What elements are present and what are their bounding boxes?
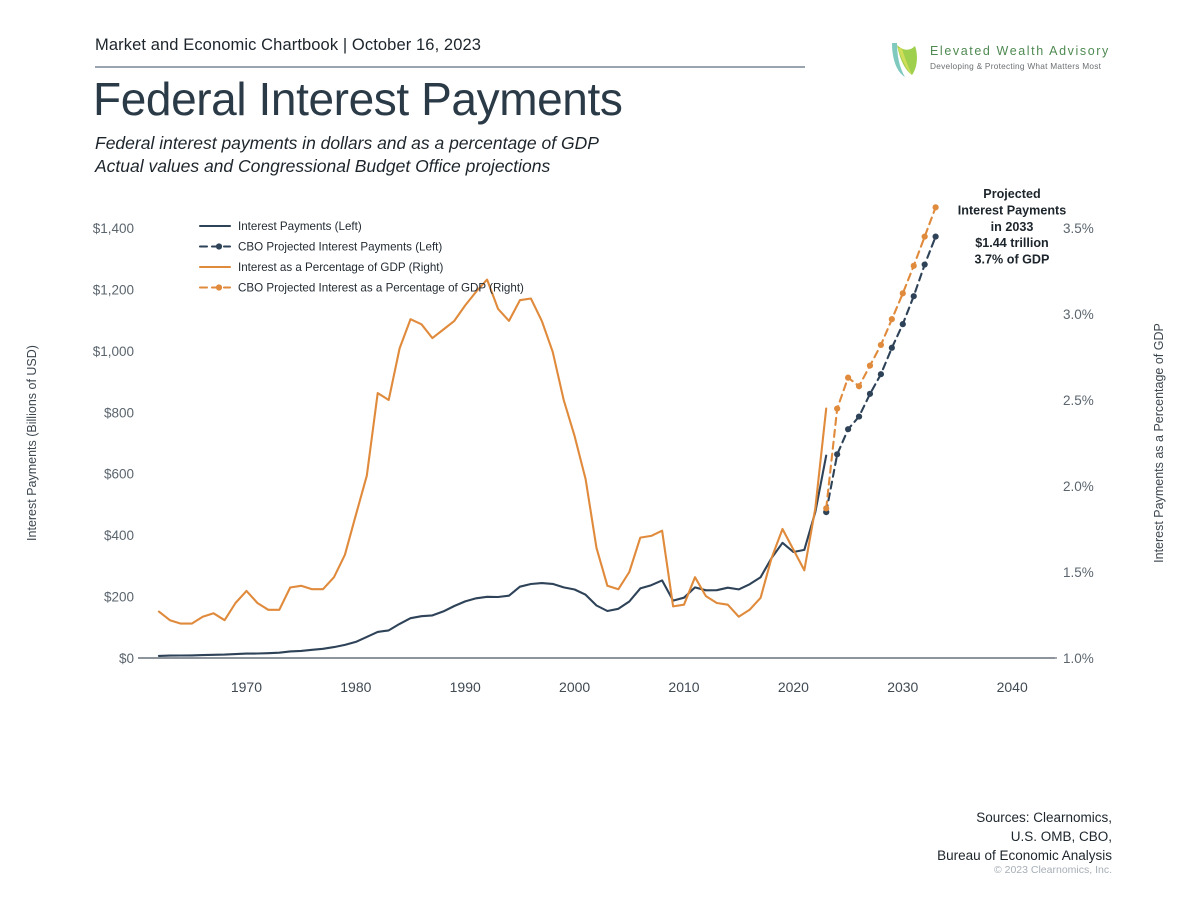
series-marker [911,263,917,269]
x-axis-tick-label: 1970 [231,679,262,695]
legend-label-0: Interest Payments (Left) [238,220,362,233]
x-axis-tick-label: 2000 [559,679,590,695]
series-marker [878,342,884,348]
projection-annotation-line-0: Projected [983,187,1040,201]
series-marker [856,413,862,419]
sources-note: Sources: Clearnomics, U.S. OMB, CBO, Bur… [937,808,1112,865]
x-axis-tick-label: 2020 [778,679,809,695]
legend-label-3: CBO Projected Interest as a Percentage o… [238,282,524,295]
series-marker [834,451,840,457]
series-marker [922,234,928,240]
y-axis-tick-label: $600 [104,467,134,482]
series-marker [922,261,928,267]
legend-label-1: CBO Projected Interest Payments (Left) [238,241,442,254]
y2-axis-tick-label: 1.5% [1063,565,1094,580]
x-axis-tick-label: 2040 [997,679,1028,695]
brand-logo: Elevated Wealth Advisory Developing & Pr… [888,40,1088,82]
chartbook-kicker: Market and Economic Chartbook | October … [95,36,481,55]
header-divider [95,66,805,68]
series-marker [867,391,873,397]
projection-annotation-line-2: in 2033 [991,220,1034,234]
copyright-note: © 2023 Clearnomics, Inc. [994,864,1112,876]
series-marker [867,363,873,369]
page-subtitle: Federal interest payments in dollars and… [95,132,599,178]
logo-company-name: Elevated Wealth Advisory [930,44,1110,58]
y2-axis-tick-label: 2.5% [1063,393,1094,408]
series-marker [878,371,884,377]
series-marker [845,375,851,381]
y-axis-tick-label: $200 [104,590,134,605]
y-axis-title: Interest Payments (Billions of USD) [25,345,39,541]
series-marker [823,505,829,511]
series-marker [900,321,906,327]
series-marker [834,406,840,412]
series-marker [889,316,895,322]
x-axis-tick-label: 1980 [340,679,371,695]
page-title: Federal Interest Payments [93,72,622,126]
logo-tagline: Developing & Protecting What Matters Mos… [930,61,1101,71]
y-axis-tick-label: $0 [119,651,134,666]
series-marker [889,345,895,351]
chart-container: $0$200$400$600$800$1,000$1,200$1,4001.0%… [0,180,1200,720]
y-axis-tick-label: $1,400 [93,221,134,236]
x-axis-tick-label: 2010 [668,679,699,695]
projection-annotation-line-3: $1.44 trillion [975,236,1049,250]
series-marker [900,290,906,296]
y2-axis-tick-label: 3.0% [1063,307,1094,322]
projection-annotation-line-4: 3.7% of GDP [975,253,1050,267]
series-marker [933,234,939,240]
series-marker [933,204,939,210]
legend-swatch-marker [216,243,222,249]
series-line-3 [826,207,935,508]
federal-interest-payments-chart: $0$200$400$600$800$1,000$1,200$1,4001.0%… [0,180,1200,720]
series-line-0 [159,456,826,656]
series-marker [845,426,851,432]
y-axis-tick-label: $1,200 [93,282,134,297]
y2-axis-tick-label: 3.5% [1063,221,1094,236]
legend-swatch-marker [216,284,222,290]
series-line-2 [159,280,826,624]
y-axis-tick-label: $800 [104,405,134,420]
slide-root: Market and Economic Chartbook | October … [0,0,1200,900]
x-axis-tick-label: 2030 [887,679,918,695]
y2-axis-title: Interest Payments as a Percentage of GDP [1152,323,1166,563]
y-axis-tick-label: $1,000 [93,344,134,359]
x-axis-tick-label: 1990 [450,679,481,695]
y2-axis-tick-label: 2.0% [1063,479,1094,494]
projection-annotation-line-1: Interest Payments [958,203,1067,217]
y2-axis-tick-label: 1.0% [1063,651,1094,666]
y-axis-tick-label: $400 [104,528,134,543]
series-marker [856,383,862,389]
legend-label-2: Interest as a Percentage of GDP (Right) [238,261,443,274]
series-marker [911,293,917,299]
leaf-icon [888,40,922,80]
